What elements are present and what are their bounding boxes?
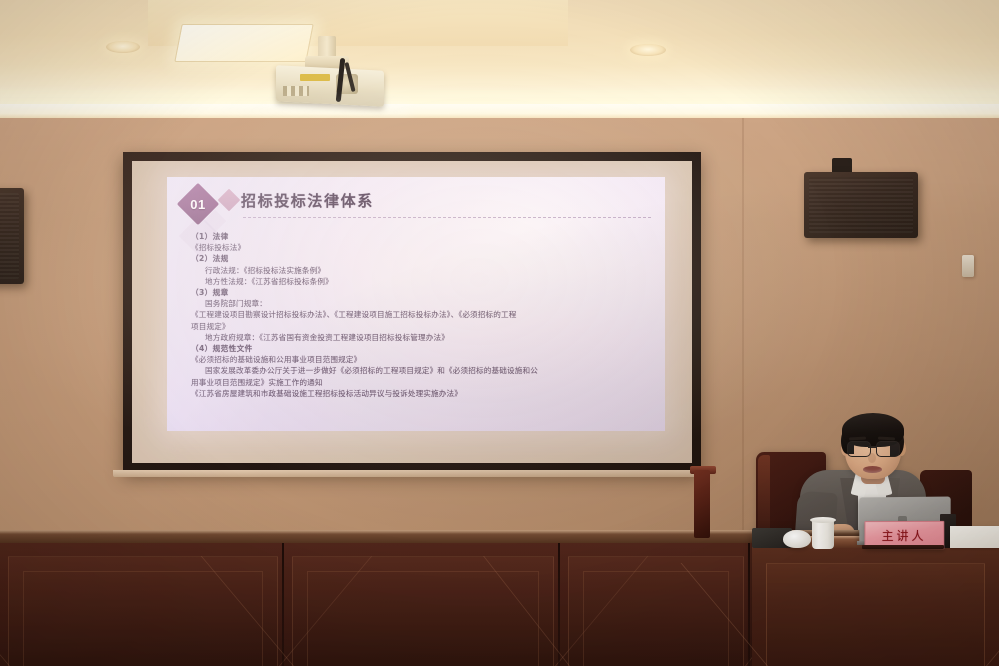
nameplate-text: 主讲人 [882, 526, 927, 543]
projector-vents [283, 86, 309, 96]
slide-line: 《江苏省房屋建筑和市政基础设施工程招标投标活动异议与投诉处理实施办法》 [189, 388, 657, 399]
computer-mouse[interactable] [783, 530, 811, 548]
slide-line: 地方性法规：《江苏省招标投标条例》 [189, 276, 657, 287]
wood-panel-divider [558, 543, 560, 666]
wall-speaker-left [0, 188, 24, 284]
slide-line: （3）规章 [189, 287, 657, 298]
slide-line: 国家发展改革委办公厅关于进一步做好《必须招标的工程项目规定》和《必须招标的基础设… [189, 365, 657, 376]
slide-line: 项目规定》 [189, 321, 657, 332]
slide-line: （2）法规 [189, 253, 657, 264]
panel-light-icon [174, 24, 313, 62]
screen-bottom-lip [113, 470, 709, 477]
slide-line: 《招标投标法》 [189, 242, 657, 253]
podium-side-post [694, 470, 710, 538]
projector-label [300, 74, 330, 81]
person-mouth [863, 466, 882, 473]
eyeglasses-lens-right-icon [876, 441, 900, 457]
slide-line: （1）法律 [189, 231, 657, 242]
slide-line: 用事业项目范围规定》实施工作的通知 [189, 377, 657, 388]
speaker-grille [809, 177, 913, 233]
slide-line: 地方政府规章：《江苏省国有资金投资工程建设项目招标投标管理办法》 [189, 332, 657, 343]
projected-slide: 01 招标投标法律体系 （1）法律《招标投标法》（2）法规行政法规：《招标投标法… [167, 177, 665, 431]
documents-on-desk [950, 526, 999, 548]
downlight-left-icon [106, 41, 140, 53]
badge-accent-diamond-icon [218, 189, 241, 212]
slide-line: 行政法规：《招标投标法实施条例》 [189, 265, 657, 276]
paper-cup [812, 519, 834, 549]
badge-number: 01 [183, 189, 213, 219]
projection-screen-surface: 01 招标投标法律体系 （1）法律《招标投标法》（2）法规行政法规：《招标投标法… [132, 161, 692, 463]
wood-panel [8, 556, 278, 666]
slide-line: 《必须招标的基础设施和公用事业项目范围规定》 [189, 354, 657, 365]
slide-title-divider [243, 217, 651, 218]
wood-panel [292, 556, 554, 666]
slide-body: （1）法律《招标投标法》（2）法规行政法规：《招标投标法实施条例》地方性法规：《… [189, 231, 657, 399]
wood-panel-divider [282, 543, 284, 666]
nameplate-stand [862, 545, 944, 549]
conference-room-scene: 01 招标投标法律体系 （1）法律《招标投标法》（2）法规行政法规：《招标投标法… [0, 0, 999, 666]
paper-cup-rim [810, 517, 836, 523]
wood-panel [568, 556, 744, 666]
wainscot-cap-highlight [0, 530, 999, 534]
slide-title: 招标投标法律体系 [241, 190, 374, 211]
slide-line: 国务院部门规章： [189, 298, 657, 309]
speaker-grille [0, 193, 19, 279]
podium-front-panel [766, 563, 985, 666]
chair-backrest-edge [758, 455, 770, 535]
slide-line: （4）规范性文件 [189, 343, 657, 354]
projection-screen-frame: 01 招标投标法律体系 （1）法律《招标投标法》（2）法规行政法规：《招标投标法… [123, 152, 701, 472]
person-nose [868, 453, 876, 463]
wall-sensor-icon [962, 255, 974, 277]
downlight-right-icon [630, 44, 666, 56]
wall-seam [742, 118, 744, 536]
eyeglasses-bridge-icon [868, 446, 877, 448]
wall-speaker-right [804, 172, 918, 238]
slide-line: 《工程建设项目勘察设计招标投标办法》、《工程建设项目施工招标投标办法》、《必须招… [189, 309, 657, 320]
eyeglasses-lens-left-icon [847, 441, 871, 457]
wood-panel-divider [748, 543, 750, 666]
